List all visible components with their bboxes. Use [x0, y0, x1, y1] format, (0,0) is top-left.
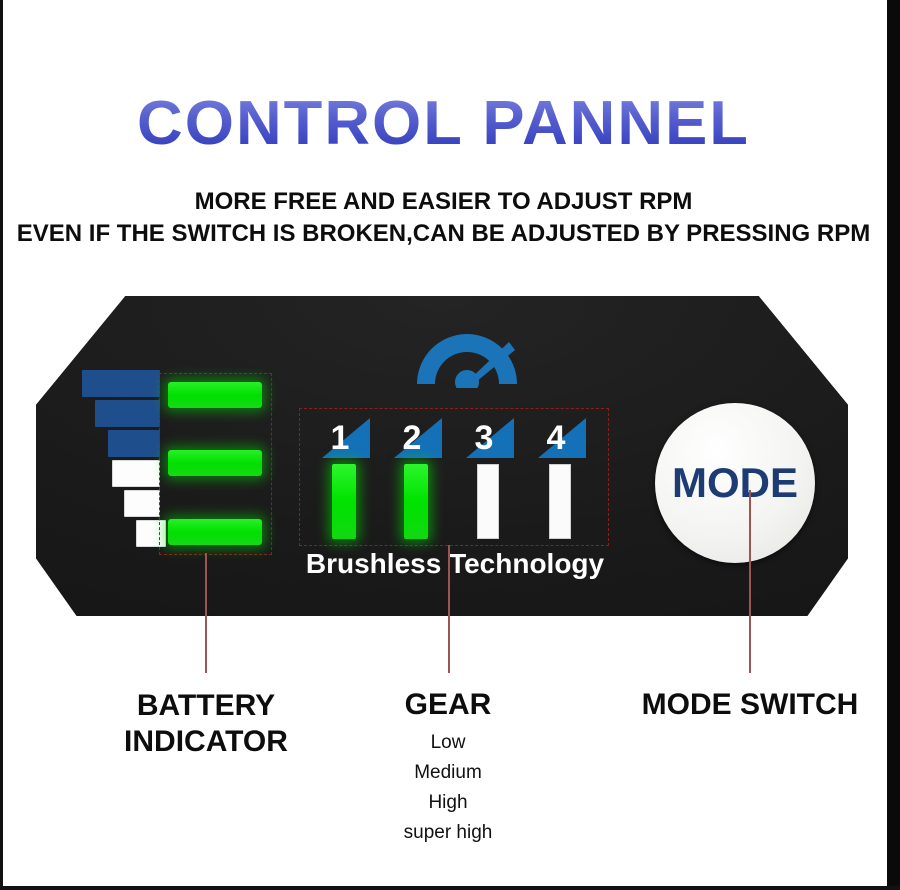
gear-level-low: Low [348, 728, 548, 758]
caption-mode-switch: MODE SWITCH [612, 688, 888, 722]
subtitle-line-2: EVEN IF THE SWITCH IS BROKEN,CAN BE ADJU… [0, 220, 887, 248]
gear-item-4[interactable]: 4 [530, 409, 592, 547]
battery-step-1 [82, 370, 160, 397]
battery-led-bar-3 [168, 519, 262, 545]
gear-number-label: 1 [322, 418, 358, 458]
gear-led-bar-1 [332, 464, 356, 539]
subtitle-line-1: MORE FREE AND EASIER TO ADJUST RPM [0, 188, 887, 216]
gear-wedge-icon: 2 [394, 418, 442, 458]
speedometer-gauge-icon [411, 322, 523, 388]
caption-battery-indicator: BATTERY INDICATOR [75, 688, 337, 760]
gear-wedge-icon: 3 [466, 418, 514, 458]
battery-led-bar-2 [168, 450, 262, 476]
battery-level-staircase [82, 370, 160, 560]
gear-led-bar-4 [549, 464, 571, 539]
gear-led-bar-3 [477, 464, 499, 539]
leader-line-battery [205, 553, 207, 673]
battery-step-2 [95, 400, 160, 427]
mode-switch-button[interactable]: MODE [655, 403, 815, 563]
leader-line-gear [448, 545, 450, 673]
battery-indicator-callout-box [159, 373, 272, 555]
caption-battery-line-2: INDICATOR [75, 724, 337, 760]
bottom-edge-border [0, 886, 900, 890]
gear-item-3[interactable]: 3 [458, 409, 520, 547]
brushless-technology-tagline: Brushless Technology [299, 548, 611, 580]
battery-step-5 [124, 490, 160, 517]
battery-step-4 [112, 460, 160, 487]
gear-number-label: 3 [466, 418, 502, 458]
caption-gear: GEAR [348, 688, 548, 722]
gear-level-list: Low Medium High super high [348, 728, 548, 848]
caption-battery-line-1: BATTERY [75, 688, 337, 724]
battery-led-bar-1 [168, 382, 262, 408]
gear-level-super-high: super high [348, 818, 548, 848]
gear-callout-box: 1 2 3 4 [299, 408, 609, 546]
page-root: CONTROL PANNEL MORE FREE AND EASIER TO A… [0, 0, 900, 890]
gear-led-bar-2 [404, 464, 428, 539]
gear-wedge-icon: 4 [538, 418, 586, 458]
gear-level-high: High [348, 788, 548, 818]
gear-level-medium: Medium [348, 758, 548, 788]
gear-item-1[interactable]: 1 [314, 409, 376, 547]
page-title: CONTROL PANNEL [0, 88, 896, 159]
gear-wedge-icon: 1 [322, 418, 370, 458]
battery-step-3 [108, 430, 160, 457]
gear-number-label: 2 [394, 418, 430, 458]
gear-item-2[interactable]: 2 [386, 409, 448, 547]
mode-button-label: MODE [672, 459, 798, 507]
gear-number-label: 4 [538, 418, 574, 458]
leader-line-mode [749, 490, 751, 673]
